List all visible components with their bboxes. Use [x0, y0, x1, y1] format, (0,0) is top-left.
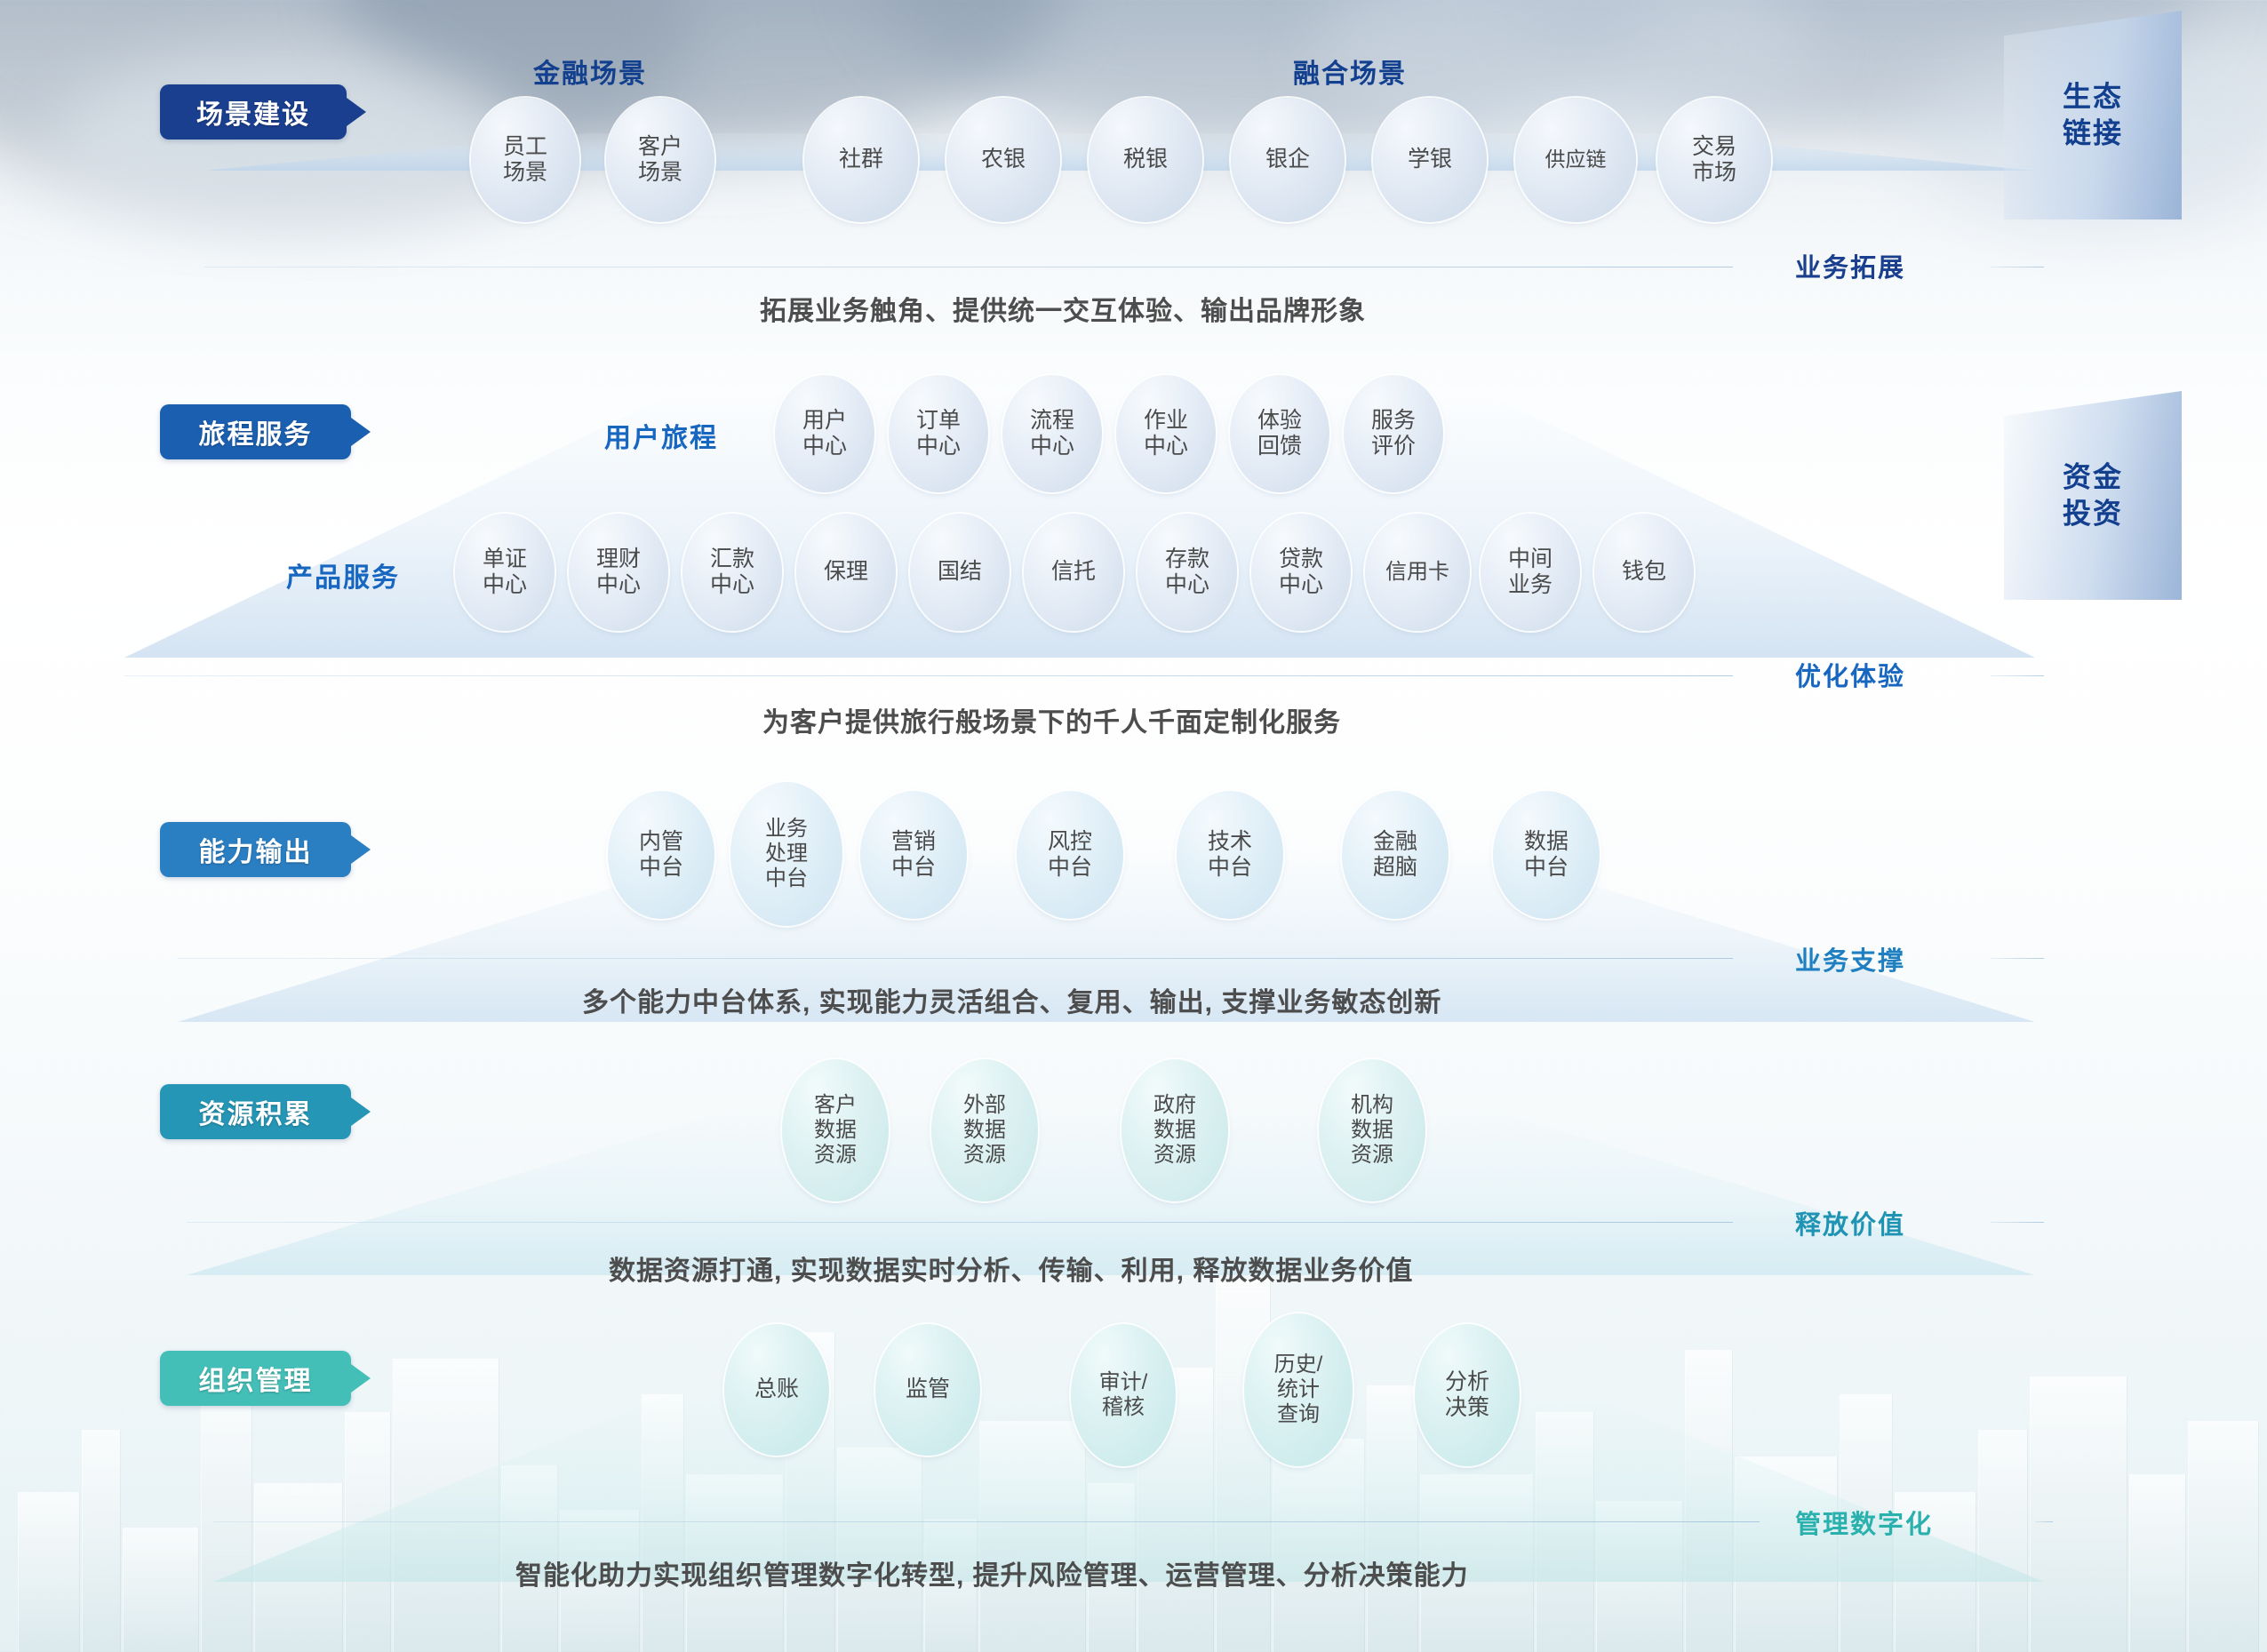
- tier-kicker-optimize-experience: 优化体验: [1795, 656, 1905, 693]
- chip-notch-icon: [351, 835, 371, 864]
- tier-label-text: 资源积累: [199, 1092, 313, 1131]
- building: [123, 1528, 199, 1652]
- tier-divider: [178, 958, 1733, 959]
- tier-caption-organization: 智能化助力实现组织管理数字化转型, 提升风险管理、运营管理、分析决策能力: [515, 1553, 1469, 1592]
- tier-kicker-management-digitalization: 管理数字化: [1795, 1504, 1933, 1541]
- tier-caption-capability: 多个能力中台体系, 实现能力灵活组合、复用、输出, 支撑业务敏态创新: [582, 980, 1441, 1019]
- tier-divider: [1991, 267, 2044, 267]
- node-scene-bank-enterprise[interactable]: 银企: [1231, 98, 1345, 222]
- chip-notch-icon: [351, 418, 371, 446]
- group-title-fusion-scene: 融合场景: [1293, 52, 1407, 91]
- building: [1978, 1430, 2028, 1652]
- node-org-general-ledger[interactable]: 总账: [724, 1324, 829, 1456]
- node-product-wealth-center[interactable]: 理财 中心: [569, 514, 668, 631]
- tier-divider: [1991, 1222, 2044, 1223]
- tier-label-text: 旅程服务: [199, 412, 313, 451]
- node-product-international-settlement[interactable]: 国结: [910, 514, 1010, 631]
- node-product-document-center[interactable]: 单证 中心: [455, 514, 555, 631]
- node-journey-operation-center[interactable]: 作业 中心: [1116, 375, 1216, 492]
- tier-caption-resource: 数据资源打通, 实现数据实时分析、传输、利用, 释放数据业务价值: [609, 1249, 1413, 1288]
- node-org-supervision[interactable]: 监管: [875, 1324, 980, 1456]
- node-capability-data[interactable]: 数据 中台: [1493, 791, 1600, 919]
- tier-divider: [204, 267, 1733, 267]
- tier-label-chip-organization[interactable]: 组织管理: [160, 1351, 351, 1406]
- node-journey-service-evaluation[interactable]: 服务 评价: [1344, 375, 1443, 492]
- node-resource-institution-data[interactable]: 机构 数据 资源: [1319, 1059, 1425, 1201]
- tier-label-chip-resource[interactable]: 资源积累: [160, 1084, 351, 1139]
- tier-label-text: 能力输出: [199, 830, 313, 869]
- node-capability-internal-management[interactable]: 内管 中台: [608, 791, 714, 919]
- side-banner-capital-investment[interactable]: 资金 投资: [2004, 391, 2182, 600]
- node-journey-user-center[interactable]: 用户 中心: [775, 375, 874, 492]
- tier-divider: [187, 1222, 1733, 1223]
- tier-caption-journey: 为客户提供旅行般场景下的千人千面定制化服务: [762, 700, 1341, 739]
- chip-notch-icon: [351, 1364, 371, 1393]
- row-title-user-journey: 用户旅程: [604, 416, 718, 455]
- node-scene-community[interactable]: 社群: [804, 98, 918, 222]
- tier-label-text: 组织管理: [199, 1359, 313, 1398]
- node-capability-marketing[interactable]: 营销 中台: [860, 791, 967, 919]
- node-product-factoring[interactable]: 保理: [796, 514, 896, 631]
- node-product-credit-card[interactable]: 信用卡: [1365, 514, 1470, 631]
- chip-notch-icon: [351, 1097, 371, 1126]
- node-journey-process-center[interactable]: 流程 中心: [1002, 375, 1102, 492]
- node-product-loan-center[interactable]: 贷款 中心: [1251, 514, 1351, 631]
- building: [2188, 1421, 2259, 1652]
- node-resource-external-data[interactable]: 外部 数据 资源: [931, 1059, 1038, 1201]
- node-scene-agri-bank[interactable]: 农银: [946, 98, 1060, 222]
- node-product-deposit-center[interactable]: 存款 中心: [1137, 514, 1237, 631]
- tier-kicker-release-value: 释放价值: [1795, 1204, 1905, 1241]
- node-scene-employee[interactable]: 员工 场景: [471, 98, 579, 222]
- tier-divider: [124, 675, 1733, 676]
- node-capability-technology[interactable]: 技术 中台: [1177, 791, 1283, 919]
- tier-label-chip-journey[interactable]: 旅程服务: [160, 404, 351, 459]
- tier-divider: [1991, 958, 2044, 959]
- node-org-history-statistics-query[interactable]: 历史/ 统计 查询: [1244, 1313, 1353, 1466]
- tier-label-text: 场景建设: [196, 92, 310, 132]
- tier-kicker-business-expansion: 业务拓展: [1795, 247, 1905, 284]
- building: [18, 1492, 80, 1652]
- banner-label: 生态 链接: [2004, 78, 2182, 152]
- node-scene-trading-market[interactable]: 交易 市场: [1657, 98, 1771, 222]
- node-scene-tax-bank[interactable]: 税银: [1089, 98, 1202, 222]
- tier-caption-scene: 拓展业务触角、提供统一交互体验、输出品牌形象: [760, 289, 1366, 328]
- node-org-analysis-decision[interactable]: 分析 决策: [1415, 1324, 1520, 1466]
- side-banner-ecosystem-link[interactable]: 生态 链接: [2004, 11, 2182, 219]
- node-org-audit-inspection[interactable]: 审计/ 稽核: [1071, 1324, 1176, 1466]
- building: [82, 1430, 121, 1652]
- tier-divider: [1991, 675, 2044, 676]
- cloud-shape: [53, 53, 515, 231]
- tier-label-chip-scene[interactable]: 场景建设: [160, 84, 347, 140]
- tier-divider: [2035, 1521, 2053, 1522]
- node-journey-experience-feedback[interactable]: 体验 回馈: [1230, 375, 1329, 492]
- banner-label: 资金 投资: [2004, 459, 2182, 532]
- group-title-financial-scene: 金融场景: [533, 52, 647, 91]
- node-scene-customer[interactable]: 客户 场景: [606, 98, 714, 222]
- node-capability-financial-brain[interactable]: 金融 超脑: [1342, 791, 1449, 919]
- node-scene-supply-chain[interactable]: 供应链: [1515, 98, 1636, 222]
- building: [2030, 1377, 2127, 1652]
- node-scene-school-bank[interactable]: 学银: [1373, 98, 1487, 222]
- node-capability-business-processing[interactable]: 业务 处理 中台: [730, 782, 842, 926]
- node-product-remittance-center[interactable]: 汇款 中心: [682, 514, 782, 631]
- node-product-intermediary-business[interactable]: 中间 业务: [1481, 514, 1580, 631]
- row-title-product-service: 产品服务: [286, 555, 400, 595]
- node-journey-order-center[interactable]: 订单 中心: [889, 375, 988, 492]
- chip-notch-icon: [347, 98, 366, 126]
- building: [201, 1385, 252, 1652]
- node-resource-government-data[interactable]: 政府 数据 资源: [1122, 1059, 1228, 1201]
- node-product-trust[interactable]: 信托: [1024, 514, 1123, 631]
- tier-kicker-business-support: 业务支撑: [1795, 940, 1905, 978]
- node-resource-customer-data[interactable]: 客户 数据 资源: [782, 1059, 889, 1201]
- tier-label-chip-capability[interactable]: 能力输出: [160, 822, 351, 877]
- building: [2129, 1474, 2186, 1652]
- node-product-wallet[interactable]: 钱包: [1594, 514, 1694, 631]
- node-capability-risk-control[interactable]: 风控 中台: [1017, 791, 1123, 919]
- tier-divider: [213, 1521, 1760, 1522]
